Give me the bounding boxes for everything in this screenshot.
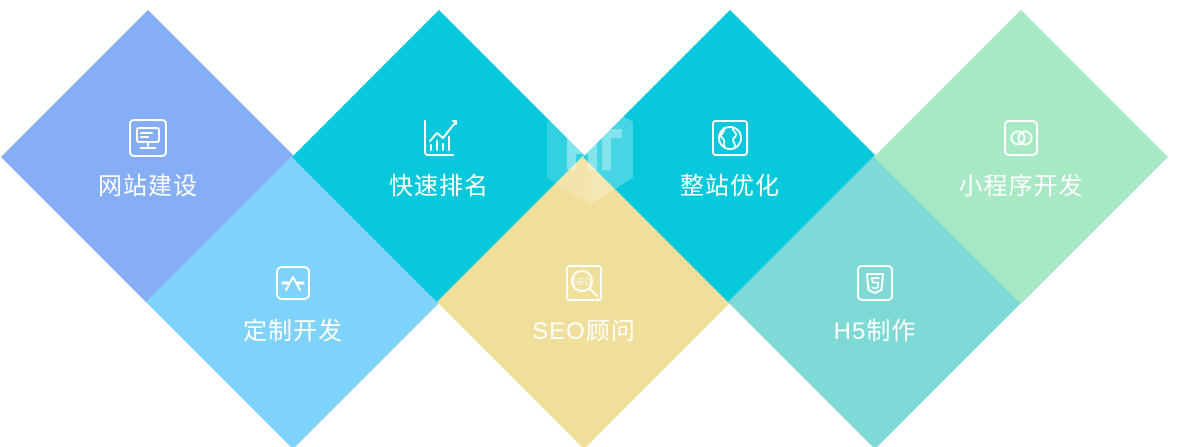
monitor-icon <box>124 114 172 162</box>
html5-shield-icon <box>851 259 899 307</box>
service-tile-label: 网站建设 <box>98 174 198 200</box>
miniprogram-rings-icon <box>997 114 1045 162</box>
appstore-icon <box>269 259 317 307</box>
service-tile-label: 定制开发 <box>243 319 343 345</box>
service-diamond-grid: 网站建设 定制开发 <box>0 0 1178 447</box>
service-tile-label: 整站优化 <box>680 174 780 200</box>
service-tile-label: SEO顾问 <box>532 319 636 345</box>
service-tile-label: 快速排名 <box>389 174 489 200</box>
service-tile-label: 小程序开发 <box>959 174 1084 200</box>
svg-text:SEO: SEO <box>572 276 591 286</box>
service-tile-label: H5制作 <box>834 319 917 345</box>
seo-magnifier-icon: SEO <box>560 259 608 307</box>
chart-trend-icon <box>415 114 463 162</box>
globe-icon <box>706 114 754 162</box>
